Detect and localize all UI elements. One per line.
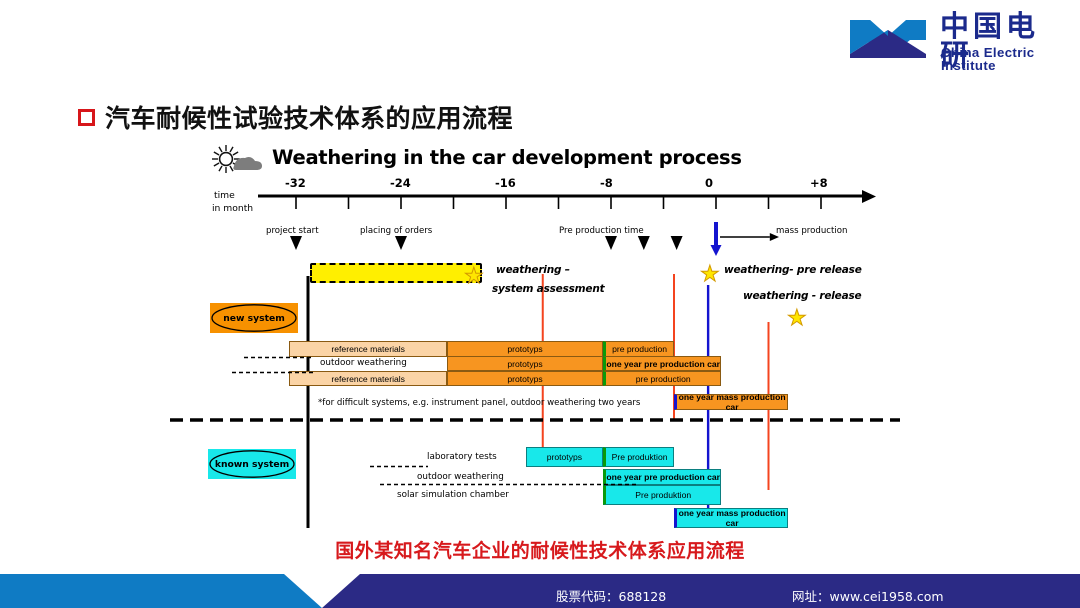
- bar-label: prototyps: [448, 344, 602, 354]
- bar-new-system-0-2: pre production: [603, 341, 674, 357]
- annotation-system-assessment-line1: weathering –: [496, 264, 570, 276]
- bar-new-system-0-1: prototyps: [447, 341, 603, 357]
- bar-label: one year pre production car: [606, 472, 720, 482]
- bar-known-system-1-0: one year pre production car: [603, 469, 721, 485]
- diagram-note: *for difficult systems, e.g. instrument …: [318, 398, 640, 408]
- bar-label: reference materials: [290, 374, 446, 384]
- bar-label: one year mass production car: [677, 392, 787, 412]
- bar-new-system-2-2: pre production: [603, 371, 721, 386]
- bar-label: prototyps: [448, 374, 602, 384]
- bar-known-system-2-0: Pre produktion: [603, 485, 721, 505]
- bar-known-system-0-0: prototyps: [526, 447, 603, 467]
- star-release: ★: [787, 307, 807, 329]
- star-pre-release: ★: [700, 263, 720, 285]
- group-badge-new-system-label: new system: [210, 313, 298, 324]
- group-badge-known-system-label: known system: [208, 459, 296, 470]
- bar-known-system-0-1: Pre produktion: [603, 447, 674, 467]
- slide-root: 中国电研 China Electric Institute 汽车耐候性试验技术体…: [0, 0, 1080, 608]
- footer-website: 网址：www.cei1958.com: [792, 586, 944, 605]
- star-system-assessment: ★: [464, 265, 484, 287]
- bar-known-system-3-0: one year mass production car: [674, 508, 788, 528]
- bar-label: one year pre production car: [606, 359, 720, 369]
- bar-label: one year mass production car: [677, 508, 787, 528]
- bar-new-system-0-0: reference materials: [289, 341, 447, 357]
- group-badge-known-system: known system: [208, 449, 296, 479]
- annotation-system-assessment-line2: system assessment: [492, 283, 604, 295]
- bar-label: prototyps: [448, 359, 602, 369]
- bar-new-system-1-0: prototyps: [447, 356, 603, 371]
- bar-new-system-2-0: reference materials: [289, 371, 447, 386]
- bar-new-system-1-1: one year pre production car: [603, 356, 721, 371]
- bar-new-system-3-0: one year mass production car: [674, 394, 788, 410]
- diagram-caption: 国外某知名汽车企业的耐候性技术体系应用流程: [0, 536, 1080, 563]
- weathering-process-diagram: Weathering in the car development proces…: [0, 0, 1080, 608]
- annotation-pre-release: weathering- pre release: [724, 264, 862, 276]
- bar-label: Pre produktion: [606, 490, 720, 500]
- bar-label: pre production: [606, 344, 673, 354]
- bar-label: reference materials: [290, 344, 446, 354]
- bar-label: Pre produktion: [606, 452, 673, 462]
- bar-label: prototyps: [527, 452, 602, 462]
- annotation-release: weathering - release: [743, 290, 861, 302]
- guide-lines: [0, 0, 1080, 608]
- footer-stock-code: 股票代码：688128: [556, 586, 666, 605]
- bar-new-system-2-1: prototyps: [447, 371, 603, 386]
- group-badge-new-system: new system: [210, 303, 298, 333]
- system-assessment-highlight: [310, 263, 482, 283]
- bar-label: pre production: [606, 374, 720, 384]
